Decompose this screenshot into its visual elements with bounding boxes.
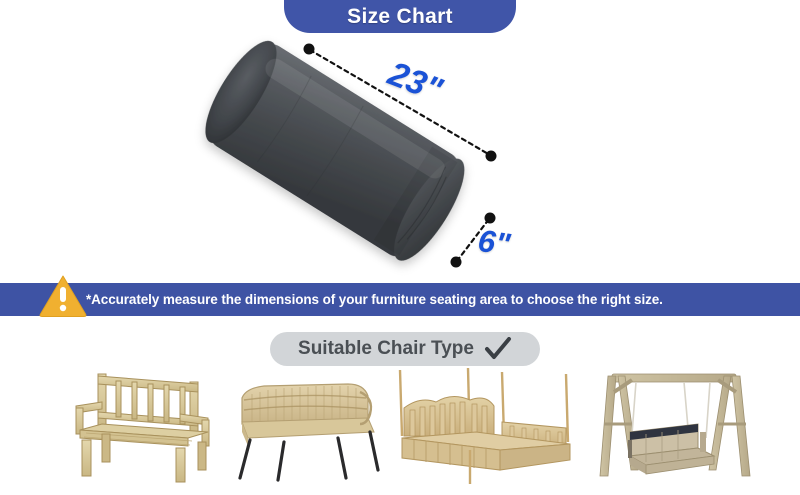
furniture-item-wooden-garden-bench (62, 362, 222, 495)
warning-triangle-icon (38, 273, 88, 318)
suitable-chair-type-pill: Suitable Chair Type (270, 332, 540, 366)
diameter-dimension-label: 6" (476, 223, 513, 263)
furniture-item-hanging-porch-swing-bed (390, 362, 580, 495)
size-chart-banner: Size Chart (284, 0, 516, 33)
size-chart-title: Size Chart (347, 5, 453, 29)
check-icon (484, 337, 512, 361)
suitable-furniture-row (0, 362, 800, 495)
furniture-item-a-frame-porch-swing (588, 362, 763, 495)
suitable-chair-type-label: Suitable Chair Type (298, 338, 474, 360)
furniture-item-rattan-wicker-sofa (228, 362, 388, 495)
warning-text: *Accurately measure the dimensions of yo… (86, 292, 663, 307)
warning-band: *Accurately measure the dimensions of yo… (0, 283, 800, 316)
product-image-area: 23" 6" (0, 33, 800, 283)
